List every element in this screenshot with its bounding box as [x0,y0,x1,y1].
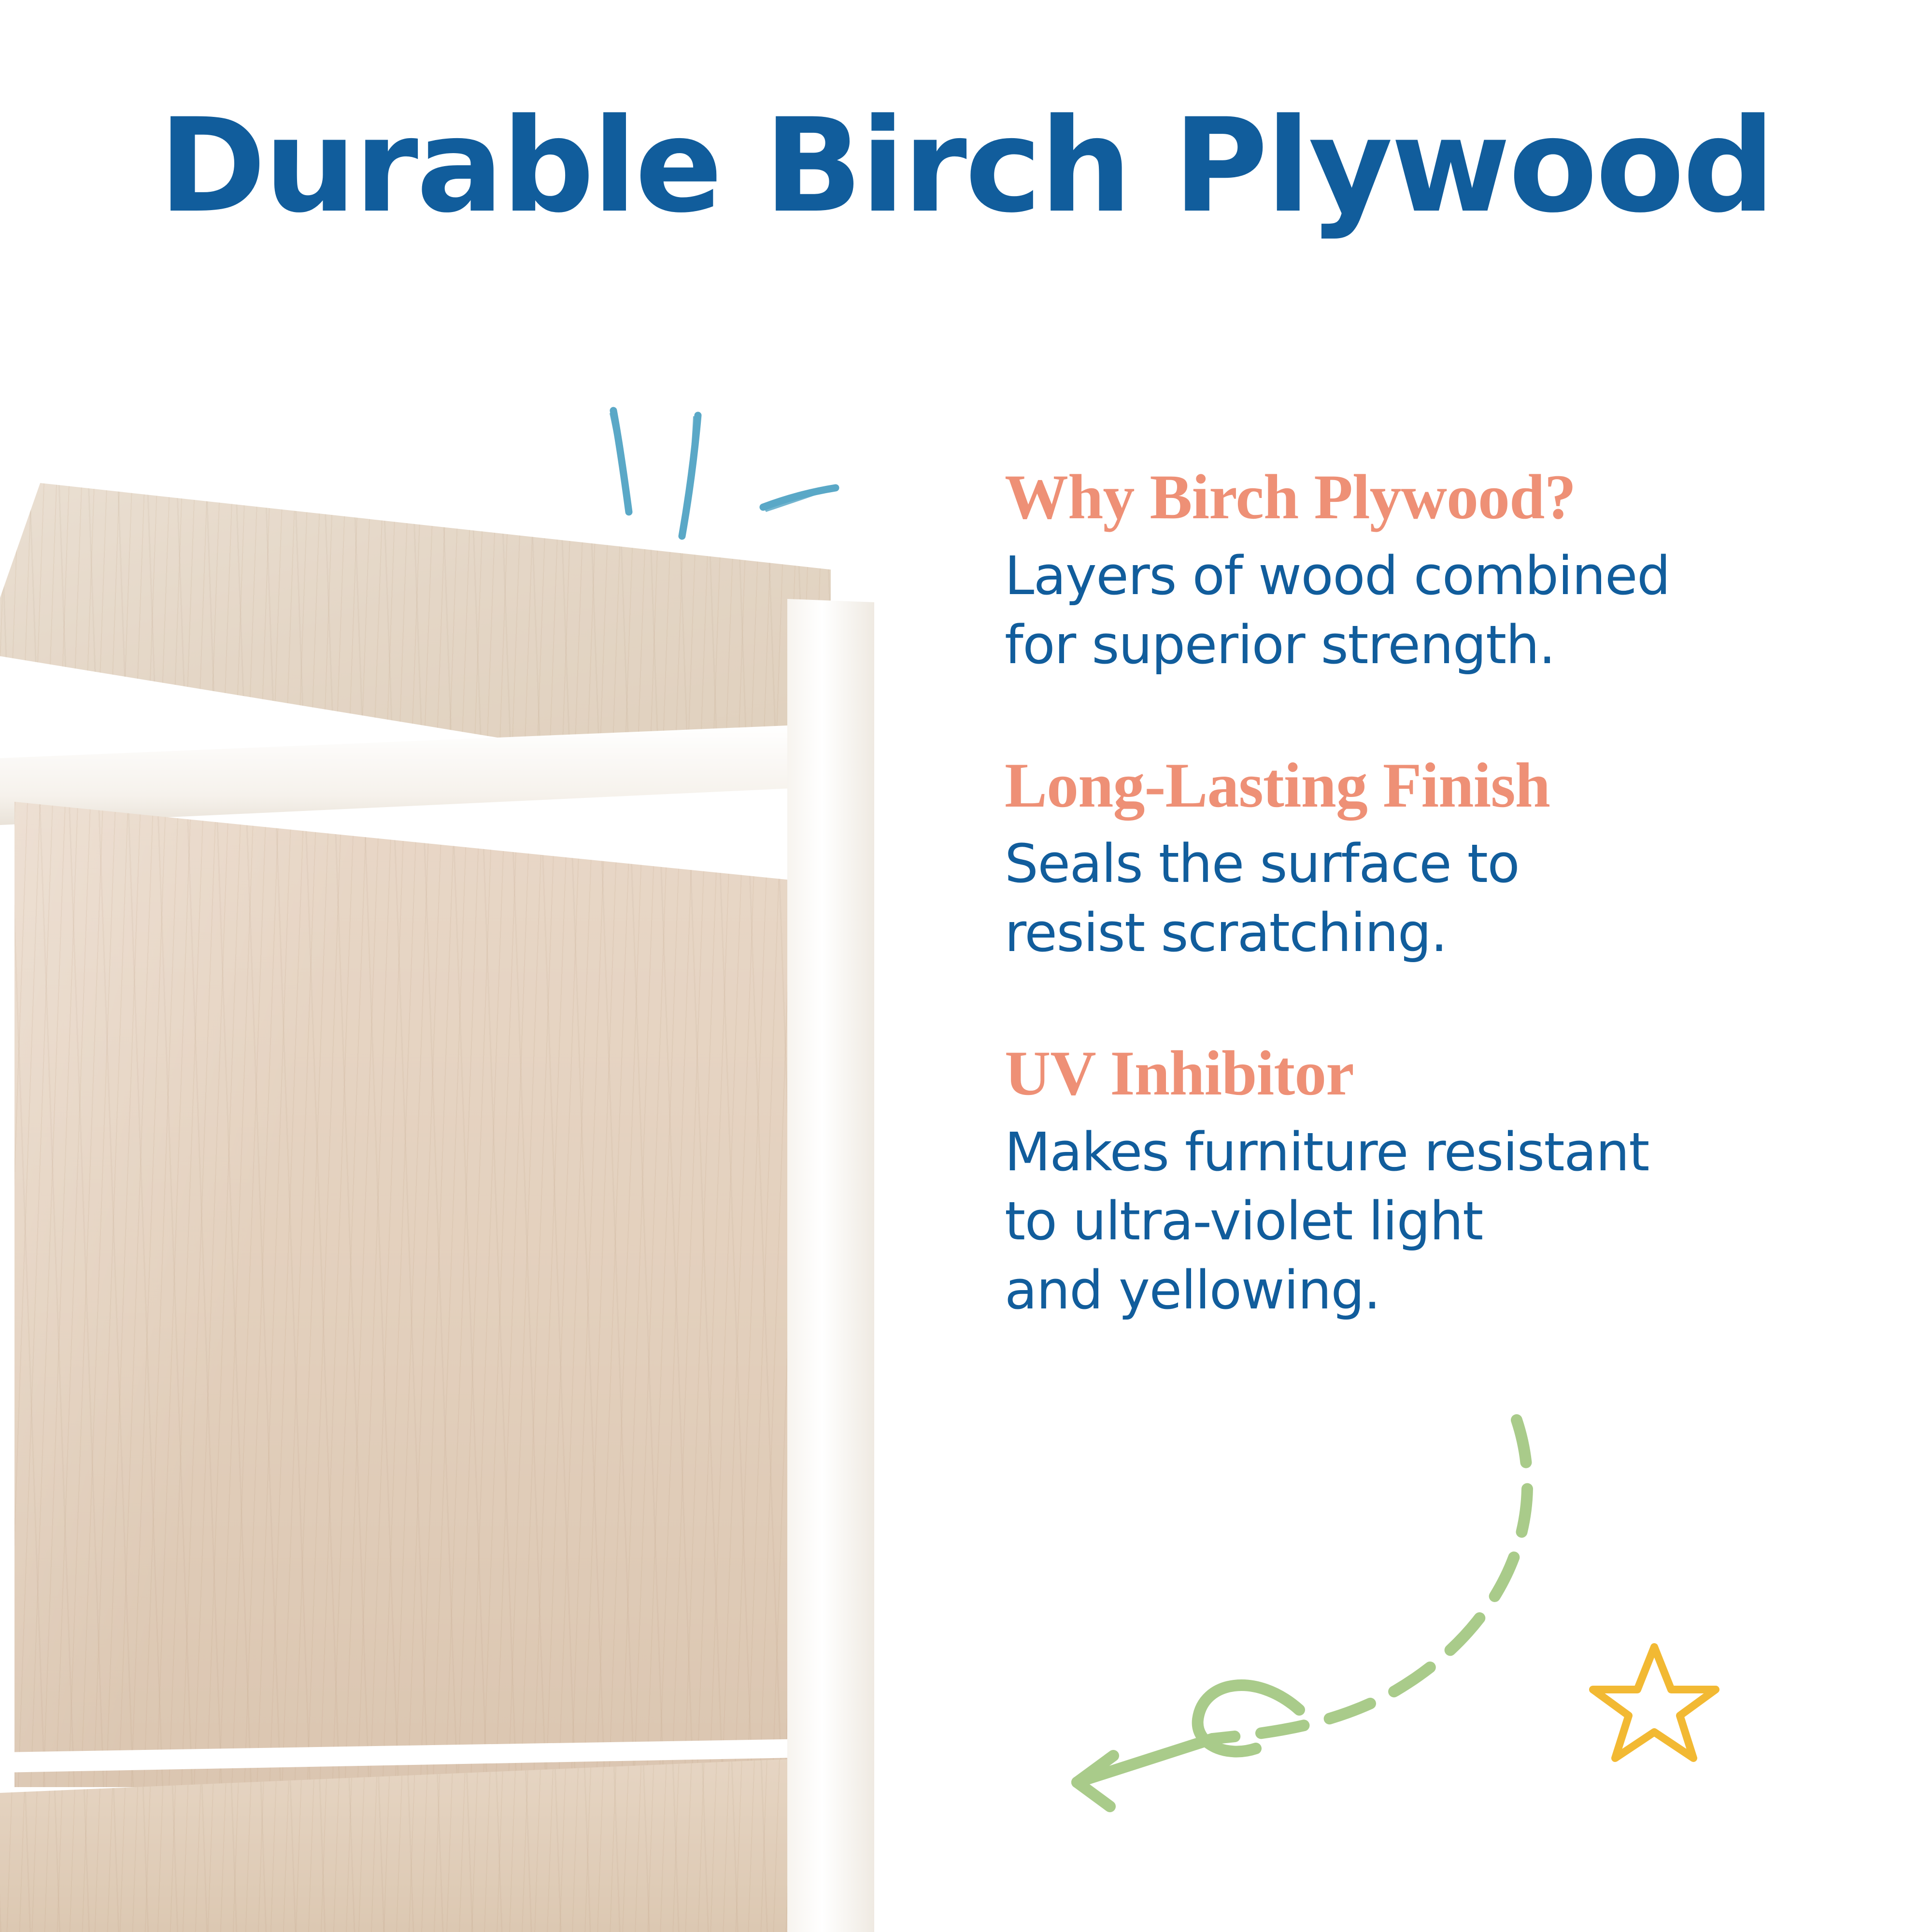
cube-front-rail [0,724,811,826]
star-icon [1589,1637,1719,1768]
curved-arrow-icon [1029,1401,1560,1835]
page-title: Durable Birch Plywood [0,101,1932,231]
feature-heading: Long-Lasting Finish [1005,752,1874,819]
feature-item: Why Birch Plywood? Layers of wood combin… [1005,464,1874,680]
cube-side-edge [787,599,874,1932]
feature-body: Makes furniture resistant to ultra-viole… [1005,1118,1874,1325]
feature-heading: UV Inhibitor [1005,1040,1874,1107]
sparkle-lines-icon [594,396,894,580]
product-photo [0,483,889,1932]
wood-grain-texture-inner [14,802,797,1787]
feature-body: Layers of wood combined for superior str… [1005,541,1874,680]
feature-list: Why Birch Plywood? Layers of wood combin… [1005,464,1874,1325]
feature-heading: Why Birch Plywood? [1005,464,1874,531]
cube-inner-panel [14,802,797,1787]
feature-item: Long-Lasting Finish Seals the surface to… [1005,752,1874,968]
feature-body: Seals the surface to resist scratching. [1005,829,1874,967]
feature-item: UV Inhibitor Makes furniture resistant t… [1005,1040,1874,1325]
